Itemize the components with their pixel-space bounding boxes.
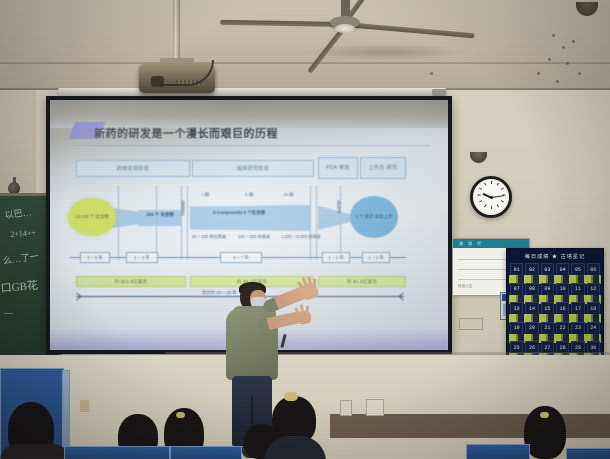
duration-box: 1 ~ 2 年 <box>126 252 158 263</box>
title-underline <box>74 145 430 146</box>
stage-label-phase-3: III 期 <box>284 192 294 198</box>
student-shoulders <box>0 444 70 459</box>
vertical-caption-nda: 新药申请 <box>336 200 342 212</box>
wall-outlet-icon <box>459 318 483 330</box>
hair-clip <box>284 392 298 401</box>
hair-clip <box>176 412 185 418</box>
stage-label-phase-2: II 期 <box>245 192 253 198</box>
chart-number-cell[interactable]: 09 <box>541 283 554 296</box>
vertical-caption-preclinical: 临床前研究 <box>180 200 186 215</box>
hair-clip <box>540 412 549 418</box>
chart-number-cell[interactable]: 22 <box>556 322 569 335</box>
clock-face <box>473 179 509 215</box>
duration-box: 1 ~ 2 年 <box>362 252 390 263</box>
notice-board-title: 通 知 栏 <box>459 241 483 247</box>
funnel-segment <box>190 205 310 231</box>
stage-label-phase-1: I 期 <box>202 192 209 198</box>
funnel-node-2: 250 个 化合物 <box>140 212 180 218</box>
chalk-line: — <box>4 308 13 318</box>
wall-clock <box>470 176 512 218</box>
small-box <box>366 399 384 416</box>
chart-number-cell[interactable]: 08 <box>525 283 538 296</box>
chart-number-cell[interactable]: 10 <box>556 283 569 296</box>
chalk-line: 么…了一 <box>2 249 39 267</box>
cabinet-front <box>330 414 610 438</box>
clock-center-pin <box>490 196 493 199</box>
classroom-photo: 以巴… 2+14++ 么…了一 口GB花 — 新药的研发是一个漫长而艰巨的历程 … <box>0 0 610 459</box>
ceiling-fan-light-icon <box>335 24 355 33</box>
presenter-lower-hand <box>296 310 312 325</box>
stage-header-discovery: 药物发现阶段 <box>76 160 190 177</box>
projector-mount-pole <box>173 0 180 62</box>
stage-header-postmarket: 上市后 研究 <box>360 157 406 179</box>
chart-number-cell[interactable]: 23 <box>571 322 584 335</box>
notice-board-subtitle: 班级公告 <box>458 284 472 289</box>
screen-roller-cap <box>432 89 446 96</box>
duration-box: 3 ~ 6 年 <box>80 252 110 263</box>
chalk-line: 以巴… <box>4 205 32 221</box>
chart-number-cell[interactable]: 11 <box>571 283 584 296</box>
stage-header-fda: FDA 审批 <box>318 157 358 179</box>
funnel-node-3: 5 Compounds 5 个化合物 <box>210 210 268 216</box>
chart-title: 每日成绩 ★ 古塔星记 <box>507 249 603 263</box>
chart-number-cell[interactable]: 21 <box>541 322 554 335</box>
chart-title-text: 每日成绩 ★ 古塔星记 <box>525 253 586 260</box>
enrollment-note: 20 ~ 100 例志愿者 <box>188 234 230 240</box>
chalk-line: 口GB花 <box>0 277 39 296</box>
stage-header-clinical: 临床研究阶段 <box>192 160 314 177</box>
desk-partition-center <box>64 446 170 459</box>
duration-box: 1 ~ 2 年 <box>322 252 350 263</box>
laser-pointer <box>280 334 286 348</box>
chart-row-cells: 070809101112 <box>509 283 601 296</box>
chart-number-cell[interactable]: 24 <box>587 322 600 335</box>
cost-bar: 约 $1.5亿美元 <box>318 276 406 287</box>
chart-number-cell[interactable]: 12 <box>587 283 600 296</box>
funnel-end-node: 1 个 新药 获批上市 <box>350 196 398 238</box>
desk-partition-center2 <box>170 446 242 459</box>
small-box <box>80 400 89 412</box>
desk-partition-far-right <box>566 448 610 459</box>
ceiling <box>0 0 610 96</box>
slide-title: 新药的研发是一个漫长而艰巨的历程 <box>94 125 278 141</box>
chart-number-cell[interactable]: 19 <box>510 322 523 335</box>
cost-bar: 约 $13.5亿美元 <box>76 276 186 287</box>
small-box <box>340 400 352 416</box>
ceiling-seam <box>0 62 610 64</box>
chart-row-cells: 192021222324 <box>509 322 601 335</box>
funnel-start-node: 10,000 个 化合物 <box>68 198 116 236</box>
chart-number-cell[interactable]: 20 <box>525 322 538 335</box>
enrollment-note: 1,000 ~ 5,000 例患者 <box>278 234 324 240</box>
chalk-line: 2+14++ <box>10 228 36 239</box>
chart-number-cell[interactable]: 07 <box>510 283 523 296</box>
duration-box: 6 ~ 7 年 <box>220 252 262 263</box>
clock-minute-hand <box>491 195 504 198</box>
desk-partition-right <box>466 444 530 459</box>
enrollment-note: 100 ~ 500 例患者 <box>232 234 276 240</box>
